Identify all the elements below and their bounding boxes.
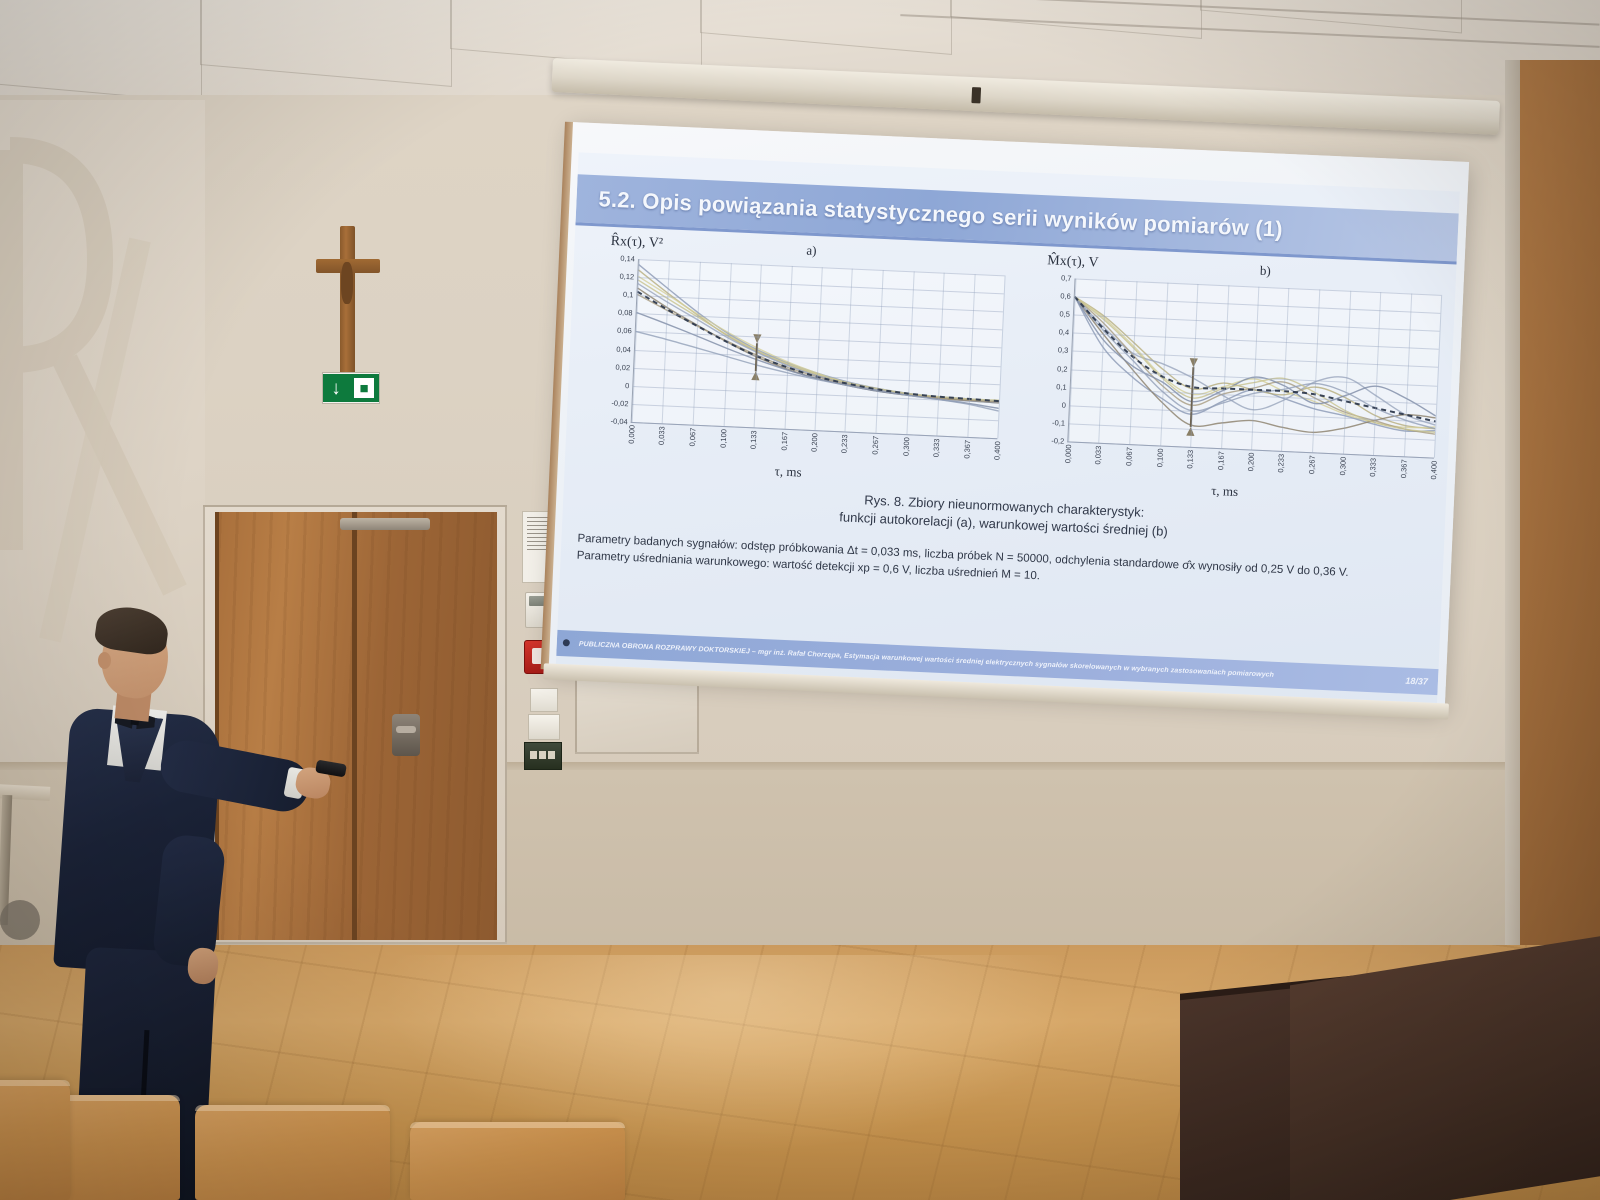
chart-conditional-mean: M̂x(τ), V b) 0,70,60,50,40,30,20,10-0,1-… — [1013, 254, 1446, 511]
x-axis-tick-label: 0,367 — [962, 440, 972, 459]
slide-number: 18/37 — [1405, 676, 1428, 687]
x-axis-tick-label: 0,200 — [1246, 452, 1256, 471]
y-axis-tick-label: 0,04 — [616, 344, 631, 354]
x-axis-tick-label: 0,267 — [1307, 455, 1317, 474]
x-axis-tick-label: 0,000 — [627, 425, 637, 444]
emergency-exit-sign: ↓ ■ — [322, 372, 380, 404]
exit-runner-panel: ■ — [349, 374, 379, 402]
chart-autocorrelation: R̂x(τ), V² a) 0,140,120,10,080,060,040,0… — [576, 235, 1009, 492]
x-axis-tick-label: 0,133 — [748, 430, 758, 449]
audience-chair-1[interactable] — [55, 1095, 180, 1200]
x-axis-tick-label: 0,033 — [657, 426, 667, 445]
roller-pull-notch — [971, 87, 981, 103]
chart-a-ylabel: R̂x(τ), V² — [610, 234, 663, 252]
projected-slide: 5.2. Opis powiązania statystycznego seri… — [556, 152, 1460, 703]
running-man-icon: ■ — [354, 378, 374, 398]
lecture-hall-scene: ↓ ■ 5.2. Opis powiązania statys — [0, 0, 1600, 1200]
y-axis-tick-label: 0,12 — [619, 272, 634, 282]
y-axis-tick-label: 0,14 — [620, 254, 635, 264]
presenter — [40, 600, 320, 1160]
y-axis-tick-label: 0,1 — [623, 290, 634, 299]
x-axis-tick-label: 0,233 — [840, 434, 850, 453]
x-axis-tick-label: 0,267 — [871, 436, 881, 455]
door-handle[interactable] — [392, 714, 420, 756]
distant-chair — [0, 900, 40, 940]
door-leaf-divider — [352, 512, 357, 940]
presenter-ear — [98, 652, 111, 669]
exit-arrow-panel: ↓ — [323, 374, 349, 402]
slide-title: 5.2. Opis powiązania statystycznego seri… — [576, 185, 1283, 242]
crucifix-figure — [341, 262, 353, 304]
y-axis-tick-label: -0,04 — [610, 417, 627, 427]
presenter-lower-arm — [151, 833, 226, 969]
x-axis-tick-label: 0,300 — [901, 437, 911, 456]
y-axis-tick-label: 0,02 — [615, 362, 630, 372]
y-axis-tick-label: 0,08 — [618, 308, 633, 318]
audience-chair-0[interactable] — [0, 1080, 70, 1200]
y-axis-tick-label: 0 — [1062, 400, 1067, 409]
y-axis-tick-label: 0 — [625, 381, 630, 390]
x-axis-tick-label: 0,300 — [1338, 456, 1348, 475]
y-axis-tick-label: -0,1 — [1052, 418, 1065, 428]
y-axis-tick-label: 0,6 — [1060, 292, 1071, 301]
x-axis-tick-label: 0,067 — [1125, 447, 1135, 466]
audience-chair-2[interactable] — [195, 1105, 390, 1200]
chart-b-panel-letter: b) — [1260, 263, 1272, 279]
x-axis-tick-label: 0,067 — [688, 428, 698, 447]
wall-wood-panel-right — [1520, 60, 1600, 1020]
audience-chair-3[interactable] — [410, 1122, 625, 1200]
chart-b-ylabel: M̂x(τ), V — [1047, 253, 1099, 271]
y-axis-tick-label: -0,02 — [611, 398, 628, 408]
door-closer-arm — [340, 518, 430, 530]
x-axis-tick-label: 0,400 — [1429, 460, 1439, 479]
x-axis-tick-label: 0,367 — [1399, 459, 1409, 478]
down-arrow-icon: ↓ — [331, 379, 341, 398]
x-axis-tick-label: 0,033 — [1093, 446, 1103, 465]
y-axis-tick-label: 0,06 — [617, 326, 632, 336]
light-switch-lower[interactable] — [528, 714, 560, 740]
x-axis-tick-label: 0,000 — [1063, 444, 1073, 463]
projection-screen: 5.2. Opis powiązania statystycznego seri… — [548, 122, 1469, 709]
x-axis-tick-label: 0,100 — [718, 429, 728, 448]
y-axis-tick-label: 0,5 — [1059, 310, 1070, 319]
x-axis-tick-label: 0,333 — [931, 438, 941, 457]
charts-row: R̂x(τ), V² a) 0,140,120,10,080,060,040,0… — [576, 235, 1446, 511]
x-axis-tick-label: 0,167 — [1216, 451, 1226, 470]
door-handle-bar[interactable] — [396, 726, 416, 733]
x-axis-tick-label: 0,200 — [810, 433, 820, 452]
x-axis-tick-label: 0,133 — [1185, 450, 1195, 469]
y-axis-tick-label: 0,1 — [1056, 382, 1067, 391]
y-axis-tick-label: 0,4 — [1058, 328, 1069, 337]
chart-a-panel-letter: a) — [806, 243, 817, 259]
x-axis-tick-label: 0,167 — [779, 432, 789, 451]
x-axis-tick-label: 0,333 — [1368, 458, 1378, 477]
y-axis-tick-label: -0,2 — [1051, 436, 1064, 446]
x-axis-tick-label: 0,233 — [1276, 454, 1286, 473]
chart-a-plot-area: 0,140,120,10,080,060,040,020-0,02-0,040,… — [631, 259, 1005, 439]
chart-b-plot-area: 0,70,60,50,40,30,20,10-0,1-0,20,0000,033… — [1067, 279, 1441, 459]
y-axis-tick-label: 0,3 — [1058, 346, 1069, 355]
y-axis-tick-label: 0,2 — [1057, 364, 1068, 373]
wall-logo-graphic — [0, 120, 210, 680]
light-switch-upper[interactable] — [530, 688, 558, 712]
y-axis-tick-label: 0,7 — [1061, 273, 1072, 282]
av-control-panel[interactable] — [524, 742, 562, 770]
x-axis-tick-label: 0,400 — [992, 441, 1002, 460]
x-axis-tick-label: 0,100 — [1155, 448, 1165, 467]
